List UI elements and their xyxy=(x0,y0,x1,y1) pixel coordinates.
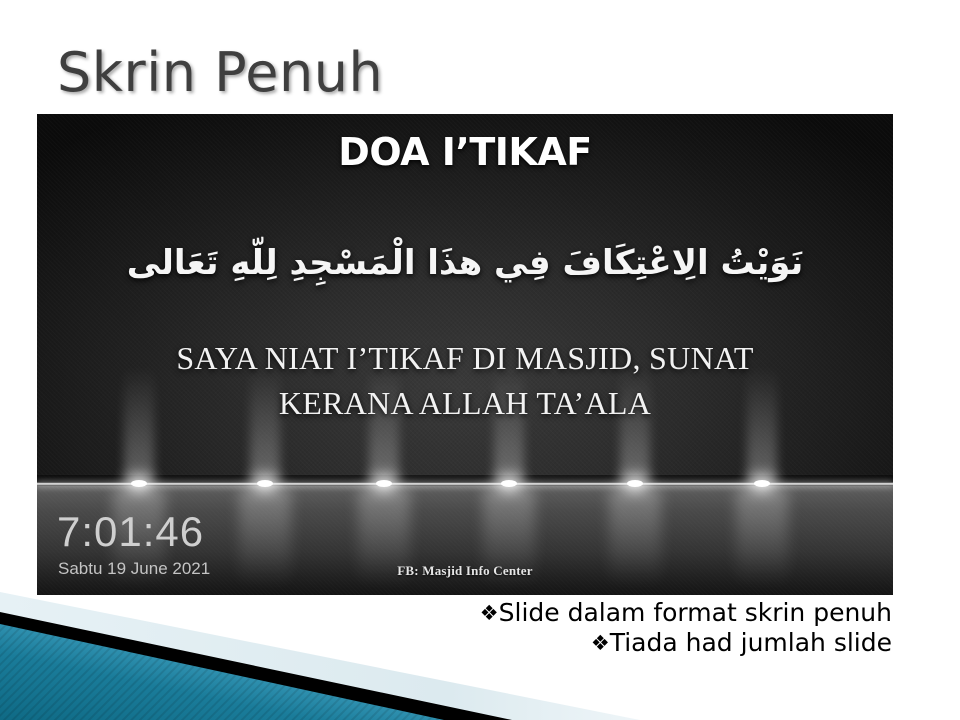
facebook-credit: FB: Masjid Info Center xyxy=(37,563,893,579)
diamond-bullet-icon: ❖ xyxy=(480,601,499,625)
slide-canvas: Skrin Penuh DOA I’TIKAF نَوَيْتُ الِاعْت… xyxy=(0,0,960,720)
arabic-dua-text: نَوَيْتُ الِاعْتِكَافَ فِي هذَا الْمَسْج… xyxy=(67,239,863,288)
teal-triangle-texture xyxy=(0,624,444,720)
spot-light-6 xyxy=(754,480,770,487)
malay-translation-line-2: KERANA ALLAH TA’ALA xyxy=(87,381,843,426)
bullet-list: ❖Slide dalam format skrin penuh ❖Tiada h… xyxy=(480,598,892,657)
doa-heading: DOA I’TIKAF xyxy=(37,130,893,174)
spot-light-5 xyxy=(627,480,643,487)
clock-display: 7:01:46 xyxy=(57,508,204,556)
malay-translation: SAYA NIAT I’TIKAF DI MASJID, SUNAT KERAN… xyxy=(87,336,843,427)
spot-light-4 xyxy=(501,480,517,487)
spot-light-2 xyxy=(257,480,273,487)
bullet-text: Slide dalam format skrin penuh xyxy=(499,598,892,627)
spot-light-3 xyxy=(376,480,392,487)
black-stripe xyxy=(0,612,512,720)
diamond-bullet-icon: ❖ xyxy=(591,631,610,655)
spot-light-1 xyxy=(131,480,147,487)
list-item: ❖Tiada had jumlah slide xyxy=(480,628,892,658)
malay-translation-line-1: SAYA NIAT I’TIKAF DI MASJID, SUNAT xyxy=(87,336,843,381)
fullscreen-slide-image: DOA I’TIKAF نَوَيْتُ الِاعْتِكَافَ فِي ه… xyxy=(37,114,893,595)
teal-triangle xyxy=(0,624,444,720)
list-item: ❖Slide dalam format skrin penuh xyxy=(480,598,892,628)
page-title: Skrin Penuh xyxy=(57,41,383,104)
bullet-text: Tiada had jumlah slide xyxy=(610,628,892,657)
